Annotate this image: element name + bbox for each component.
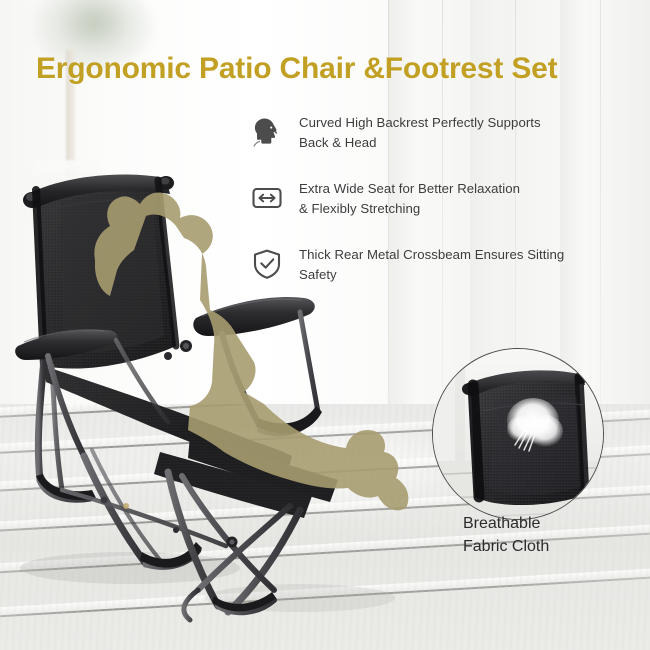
head-profile-icon — [245, 110, 289, 154]
chair-armrest-right — [193, 297, 314, 336]
patio-chair-product-image — [0, 150, 470, 630]
detail-inset-circle — [432, 348, 604, 520]
caption-line: Fabric Cloth — [463, 535, 643, 558]
detail-inset-caption: Breathable Fabric Cloth — [463, 512, 643, 558]
feature-line: Curved High Backrest Perfectly Supports — [299, 113, 541, 133]
page-title: Ergonomic Patio Chair &Footrest Set — [36, 52, 636, 86]
product-banner: Ergonomic Patio Chair &Footrest Set Curv… — [0, 0, 650, 650]
feature-item-backrest: Curved High Backrest Perfectly Supports … — [245, 110, 645, 154]
caption-line: Breathable — [463, 512, 643, 535]
feature-text: Curved High Backrest Perfectly Supports … — [299, 110, 541, 153]
